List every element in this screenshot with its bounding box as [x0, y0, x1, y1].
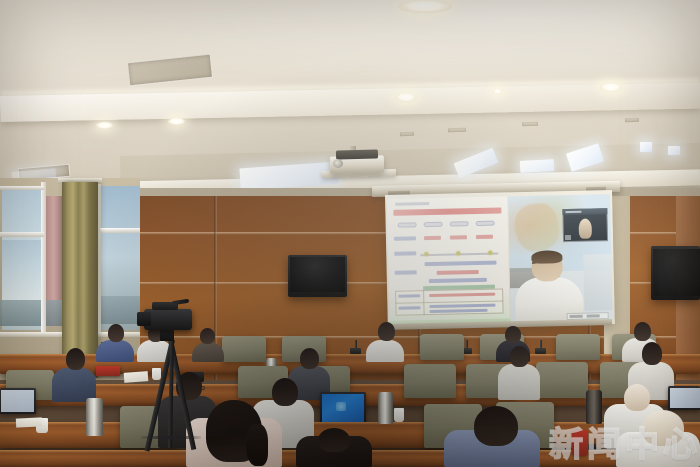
- window-transom: [0, 186, 44, 190]
- laptop-screen: [1, 390, 34, 412]
- watermark-char-1: 新: [549, 428, 584, 462]
- slide-node-label: [450, 235, 467, 239]
- person-head: [66, 348, 85, 370]
- video-desk: [510, 267, 560, 288]
- video-participant-hair: [531, 250, 562, 264]
- window-mullion: [41, 182, 46, 332]
- slide-title-text: [393, 207, 501, 215]
- person-head: [272, 378, 298, 406]
- person-head: [474, 406, 518, 446]
- watermark-char-3: 中: [625, 428, 660, 462]
- news-center-watermark: 新 闻 中 心: [546, 424, 698, 466]
- person-head: [318, 428, 350, 452]
- ceiling-downlight-icon: [96, 122, 113, 129]
- video-button[interactable]: [570, 315, 583, 318]
- flow-pill: [450, 221, 469, 226]
- slide-node-label: [424, 236, 441, 240]
- person-body: [366, 340, 404, 362]
- ceiling-downlight-icon: [600, 83, 622, 92]
- person-head: [378, 322, 395, 341]
- slide-table-cell: [398, 294, 420, 297]
- person-head: [200, 328, 215, 344]
- desk-edge: [0, 384, 700, 387]
- presentation-slide: [387, 196, 510, 321]
- slide-table-cell: [430, 309, 488, 313]
- thermos-flask: [378, 392, 393, 424]
- window-transom: [0, 232, 44, 237]
- person-body: [192, 342, 224, 362]
- person-head: [108, 324, 124, 342]
- projector-lens-icon: [333, 159, 343, 168]
- person-body: [52, 368, 96, 402]
- tv-screen-icon: [653, 249, 700, 296]
- chair-back: [556, 334, 600, 360]
- slide-table-cell: [429, 304, 495, 308]
- person-head: [505, 326, 521, 343]
- slide-table-cell: [398, 306, 420, 309]
- paper-cup: [152, 368, 161, 380]
- slide-table-cell: [429, 293, 495, 297]
- photo-conference-room: 新 闻 中 心: [0, 0, 700, 467]
- laptop-screen: [670, 388, 700, 408]
- ceiling-vent-icon: [400, 132, 414, 136]
- person-head: [624, 384, 650, 411]
- slide-table-divider: [395, 300, 503, 303]
- chair-back: [536, 362, 588, 398]
- tv-screen-icon: [290, 257, 345, 292]
- video-participant-body: [515, 277, 584, 323]
- pip-participant: [579, 218, 592, 238]
- broadcast-camera-body: [144, 309, 192, 330]
- flow-node: [424, 252, 428, 256]
- person-head: [300, 348, 319, 369]
- slide-row-label: [395, 270, 417, 274]
- ceiling-vent-icon: [448, 128, 466, 133]
- hair-strand: [246, 424, 268, 466]
- slide-body-text: [437, 270, 479, 275]
- person-head: [634, 322, 651, 341]
- chair-back: [404, 364, 456, 398]
- slide-table-divider: [423, 290, 424, 315]
- flow-pill: [476, 221, 495, 226]
- projection-screen-surface: [385, 190, 615, 329]
- slide-body-text: [429, 278, 487, 283]
- flow-pill: [424, 222, 443, 227]
- flow-connector: [420, 253, 498, 256]
- ceiling-downlight-icon: [493, 89, 502, 94]
- exterior-skyline: [98, 296, 140, 324]
- tripod-spreader: [141, 436, 201, 439]
- slide-node-label: [476, 235, 493, 239]
- window-transom: [100, 228, 140, 233]
- thermos-flask: [86, 398, 103, 436]
- pip-title-text: [565, 211, 581, 213]
- person-head: [642, 342, 662, 365]
- eyeglasses-icon: [196, 386, 205, 390]
- desk-microphone: [350, 348, 361, 354]
- person-head: [510, 346, 529, 367]
- watermark-char-4: 心: [663, 428, 698, 462]
- video-button[interactable]: [587, 314, 600, 317]
- paper-sheet: [124, 371, 149, 383]
- video-participant-head: [531, 251, 563, 282]
- slide-body-text: [423, 285, 495, 291]
- laptop-desktop-icon: [336, 402, 346, 411]
- video-conference-feed: [508, 194, 613, 322]
- paper-cup: [394, 408, 404, 422]
- slide-subheading: [395, 202, 429, 206]
- ceiling-downlight-icon: [168, 118, 185, 125]
- ceiling-panel-light: [640, 142, 652, 152]
- document-folder: [96, 366, 120, 376]
- camera-lens-hood-icon: [137, 312, 151, 326]
- ceiling-downlight-icon: [395, 93, 417, 102]
- thermos-flask: [586, 390, 602, 424]
- slide-row-label: [394, 251, 416, 255]
- slide-row-label: [394, 236, 416, 240]
- ceiling-downlight-icon: [398, 0, 452, 13]
- person-body: [96, 340, 134, 362]
- ceiling-panel-light: [520, 159, 555, 173]
- pip-control-button[interactable]: [565, 235, 571, 240]
- projector-top-cover: [336, 149, 378, 159]
- exterior-skyline: [0, 300, 62, 326]
- map-region-shape: [514, 203, 559, 252]
- flow-pill: [398, 222, 417, 227]
- watermark-char-2: 闻: [587, 428, 622, 462]
- slide-table: [395, 288, 504, 315]
- desk-microphone: [535, 348, 546, 354]
- ceiling-panel-light: [668, 146, 680, 155]
- notepad: [16, 417, 42, 427]
- person-body: [498, 364, 540, 400]
- chair-back: [420, 334, 464, 360]
- pip-title-bar: [562, 208, 607, 215]
- flow-node: [456, 251, 460, 255]
- ceiling-vent-icon: [522, 122, 538, 127]
- picture-in-picture-window: [562, 208, 608, 242]
- ceiling-vent-icon: [625, 118, 639, 122]
- video-map-background: [508, 194, 612, 272]
- slide-body-text: [424, 261, 496, 267]
- chair-back: [222, 336, 266, 362]
- video-wall-panel: [583, 254, 612, 311]
- flow-node: [488, 251, 492, 255]
